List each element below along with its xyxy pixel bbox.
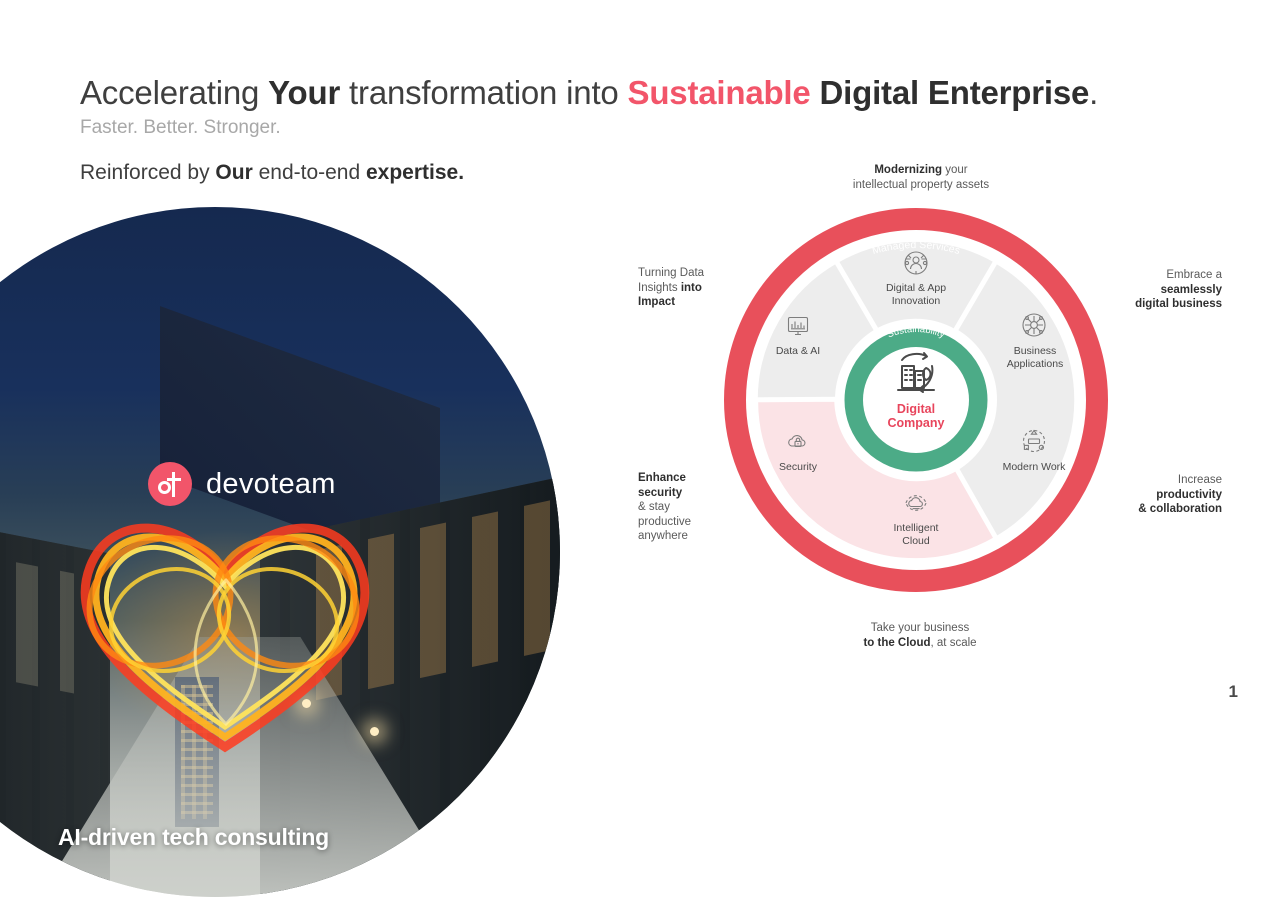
headline-part-2: transformation into [340, 74, 627, 111]
annotation-take-to-cloud: Take your business to the Cloud, at scal… [805, 621, 1035, 650]
devoteam-mark-icon [148, 462, 192, 506]
hero-photo: devoteam AI-driven tech consulting [0, 207, 560, 897]
center-title-line-1: Digital [897, 402, 935, 416]
devoteam-wordmark: devoteam [206, 468, 336, 501]
anno-lt-line3: Impact [638, 296, 675, 308]
headline-bold-digital-enterprise: Digital Enterprise [820, 74, 1090, 111]
anno-lt-line2a: Insights [638, 282, 681, 294]
digital-company-title: Digital Company [866, 402, 966, 430]
chart-screen-icon [785, 312, 811, 338]
anno-top-bold: Modernizing [874, 164, 942, 176]
reinforced-bold-our: Our [215, 161, 252, 184]
anno-lb-line4: productive [638, 516, 691, 528]
devoteam-logo: devoteam [148, 462, 336, 506]
anno-top-rest: your [942, 164, 968, 176]
anno-bot-line1: Take your business [871, 622, 969, 634]
cloud-icon [903, 490, 929, 516]
anno-rt-line3: digital business [1135, 298, 1222, 310]
anno-rt-line2: seamlessly [1161, 284, 1222, 296]
annotation-increase-productivity: Increase productivity & collaboration [1090, 473, 1222, 517]
anno-rt-line1: Embrace a [1166, 269, 1222, 281]
page-title: Accelerating Your transformation into Su… [80, 74, 1230, 112]
page-number: 1 [1229, 682, 1238, 702]
light-painting-heart [30, 462, 420, 772]
headline-accent-sustainable: Sustainable [628, 74, 811, 111]
anno-bot-line2-rest: , at scale [931, 637, 977, 649]
collaboration-icon [1021, 428, 1047, 454]
anno-rb-line1: Increase [1178, 474, 1222, 486]
annotation-embrace-seamlessly: Embrace a seamlessly digital business [1090, 268, 1222, 312]
subtitle: Faster. Better. Stronger. [80, 117, 281, 139]
anno-rb-line2: productivity [1156, 489, 1222, 501]
photo-caption: AI-driven tech consulting [58, 824, 329, 851]
anno-top-line2: intellectual property assets [853, 179, 989, 191]
anno-lb-line3: & stay [638, 501, 670, 513]
reinforced-part-2: end-to-end [253, 161, 366, 184]
headline-part-3 [811, 74, 820, 111]
anno-lb-line1: Enhance [638, 472, 686, 484]
annotation-enhance-security: Enhance security & stay productive anywh… [638, 471, 748, 544]
headline-bold-your: Your [268, 74, 340, 111]
anno-rb-line3: & collaboration [1138, 503, 1222, 515]
reinforced-line: Reinforced by Our end-to-end expertise. [80, 161, 464, 185]
anno-lt-line2b: into [681, 282, 702, 294]
annotation-turning-data-insights: Turning Data Insights into Impact [638, 266, 748, 310]
people-network-icon [903, 250, 929, 276]
capability-wheel: Managed Services Sustainability Digital … [718, 202, 1114, 598]
gear-network-icon [1021, 312, 1047, 338]
cloud-lock-icon [785, 428, 811, 454]
annotation-modernizing: Modernizing your intellectual property a… [806, 163, 1036, 192]
anno-lb-line2: security [638, 487, 682, 499]
anno-bot-line2-bold: to the Cloud [863, 637, 930, 649]
anno-lb-line5: anywhere [638, 530, 688, 542]
headline-part-4: . [1089, 74, 1098, 111]
digital-company-building-icon [888, 350, 944, 398]
reinforced-part-1: Reinforced by [80, 161, 215, 184]
headline-part-1: Accelerating [80, 74, 268, 111]
anno-lt-line1: Turning Data [638, 267, 704, 279]
center-title-line-2: Company [888, 416, 945, 430]
reinforced-bold-expertise: expertise. [366, 161, 464, 184]
